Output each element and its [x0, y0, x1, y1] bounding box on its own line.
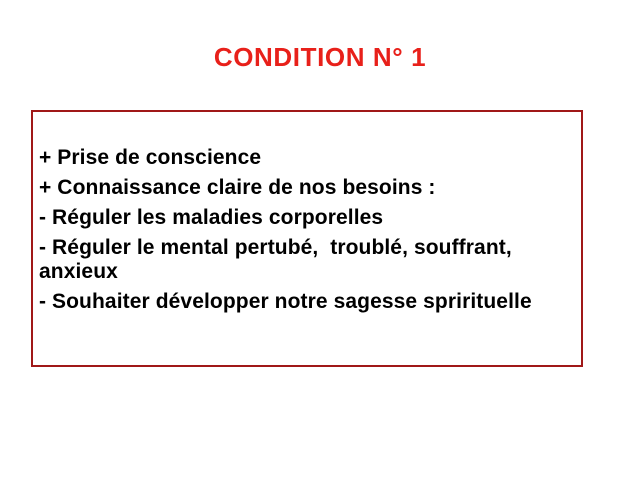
- list-item: + Prise de conscience: [39, 146, 577, 170]
- list-item: + Connaissance claire de nos besoins :: [39, 176, 577, 200]
- list-item: - Souhaiter développer notre sagesse spr…: [39, 290, 577, 314]
- content-box: + Prise de conscience + Connaissance cla…: [31, 110, 583, 367]
- bullet-list: + Prise de conscience + Connaissance cla…: [39, 146, 577, 314]
- list-item: - Réguler les maladies corporelles: [39, 206, 577, 230]
- page-title: CONDITION N° 1: [0, 42, 640, 72]
- slide-canvas: CONDITION N° 1 + Prise de conscience + C…: [0, 0, 640, 480]
- list-item: - Réguler le mental pertubé, troublé, so…: [39, 236, 577, 284]
